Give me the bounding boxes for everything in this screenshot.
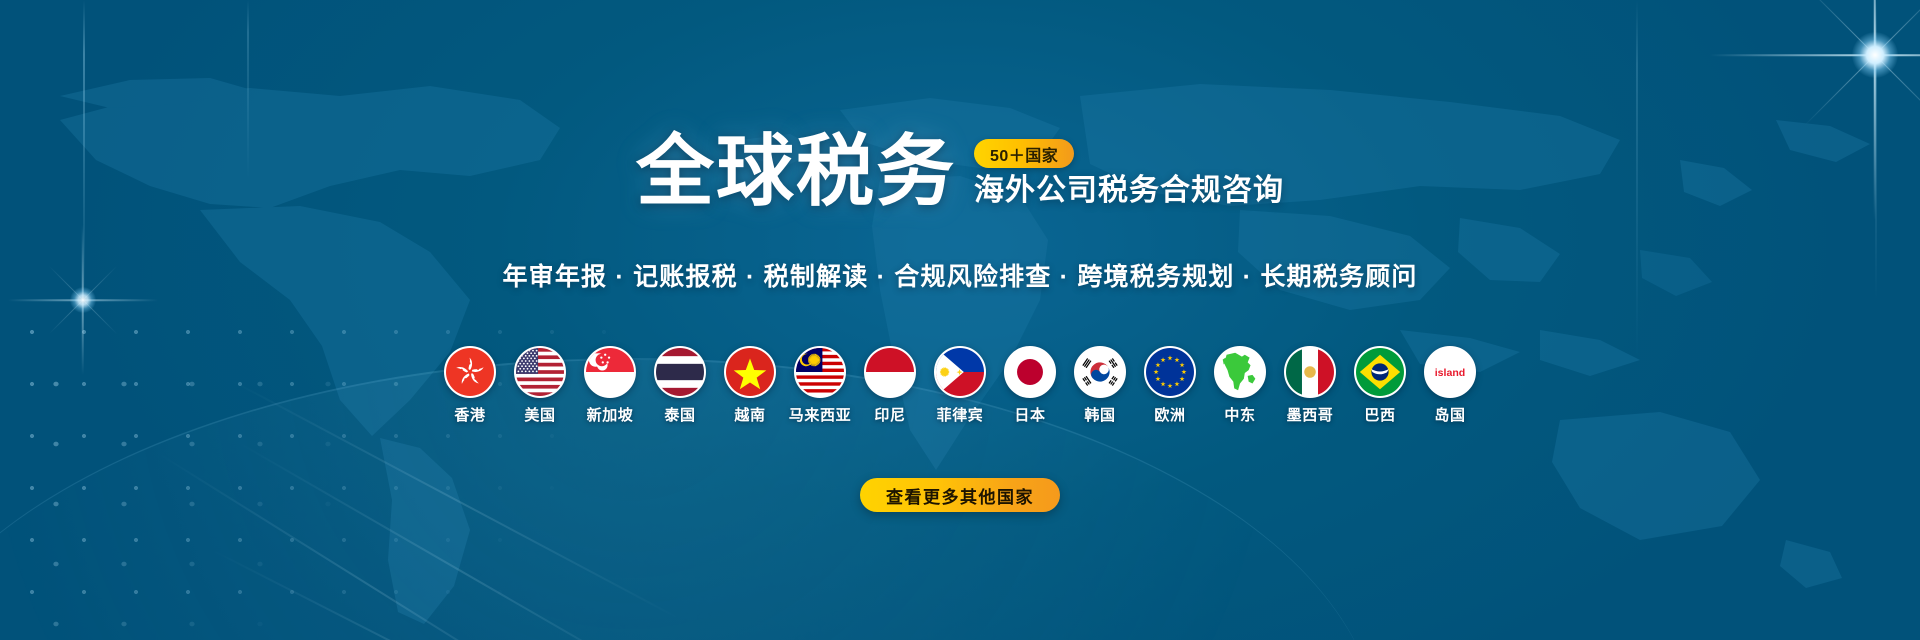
country-flag-label: 韩国 [1084,407,1115,424]
country-flag-item-island[interactable]: island岛国 [1415,346,1485,424]
country-flag-item-mx[interactable]: 墨西哥 [1275,346,1345,424]
country-flag-label: 香港 [454,407,485,424]
country-flag-label: 墨西哥 [1287,407,1334,424]
flag-japan-icon [1004,346,1056,398]
page-subtitle: 海外公司税务合规咨询 [974,174,1284,208]
country-flag-label: 菲律宾 [937,407,984,424]
headline-side-block: 50＋国家 海外公司税务合规咨询 [956,139,1284,212]
country-flag-item-vn[interactable]: 越南 [715,346,785,424]
map-middle-east-icon [1214,346,1266,398]
flag-indonesia-icon [864,346,916,398]
page-title: 全球税务 [636,130,956,212]
flag-south-korea-icon [1074,346,1126,398]
flag-singapore-icon [584,346,636,398]
country-flag-label: 新加坡 [587,407,634,424]
headline-block: 全球税务 50＋国家 海外公司税务合规咨询 [0,130,1920,212]
country-flag-item-me[interactable]: 中东 [1205,346,1275,424]
banner-content: 全球税务 50＋国家 海外公司税务合规咨询 年审年报 · 记账报税 · 税制解读… [0,0,1920,640]
country-flag-item-kr[interactable]: 韩国 [1065,346,1135,424]
flag-thailand-icon [654,346,706,398]
country-flag-label: 泰国 [664,407,695,424]
flag-europe-icon [1144,346,1196,398]
country-flag-item-jp[interactable]: 日本 [995,346,1065,424]
flag-philippines-icon [934,346,986,398]
flag-malaysia-icon [794,346,846,398]
country-flag-label: 欧洲 [1154,407,1185,424]
flag-brazil-icon [1354,346,1406,398]
country-flag-label: 日本 [1014,407,1045,424]
country-flag-item-th[interactable]: 泰国 [645,346,715,424]
country-flag-item-sg[interactable]: 新加坡 [575,346,645,424]
country-flag-item-ph[interactable]: 菲律宾 [925,346,995,424]
country-flag-item-us[interactable]: 美国 [505,346,575,424]
flag-mexico-icon [1284,346,1336,398]
view-more-countries-button[interactable]: 查看更多其他国家 [860,478,1060,512]
country-flag-item-br[interactable]: 巴西 [1345,346,1415,424]
service-tagline: 年审年报 · 记账报税 · 税制解读 · 合规风险排查 · 跨境税务规划 · 长… [0,262,1920,292]
global-tax-hero-banner: 全球税务 50＋国家 海外公司税务合规咨询 年审年报 · 记账报税 · 税制解读… [0,0,1920,640]
flag-vietnam-icon [724,346,776,398]
country-flag-label: 美国 [524,407,555,424]
country-flag-label: 越南 [734,407,765,424]
flag-usa-icon [514,346,566,398]
country-flag-label: 马来西亚 [789,407,851,424]
country-flag-item-hk[interactable]: 香港 [435,346,505,424]
country-flag-label: 中东 [1224,407,1255,424]
country-flag-label: 印尼 [874,407,905,424]
country-count-badge: 50＋国家 [974,139,1074,168]
country-flag-item-my[interactable]: 马来西亚 [785,346,855,424]
country-flag-item-id[interactable]: 印尼 [855,346,925,424]
flag-hong-kong-icon [444,346,496,398]
country-flag-label: 岛国 [1434,407,1465,424]
country-flag-row: 香港 美国 新加坡 泰国 越南 [0,346,1920,424]
island-wordmark-icon: island [1424,346,1476,398]
country-flag-label: 巴西 [1364,407,1395,424]
svg-text:island: island [1435,367,1465,379]
country-flag-item-eu[interactable]: 欧洲 [1135,346,1205,424]
cta-container: 查看更多其他国家 [0,478,1920,512]
